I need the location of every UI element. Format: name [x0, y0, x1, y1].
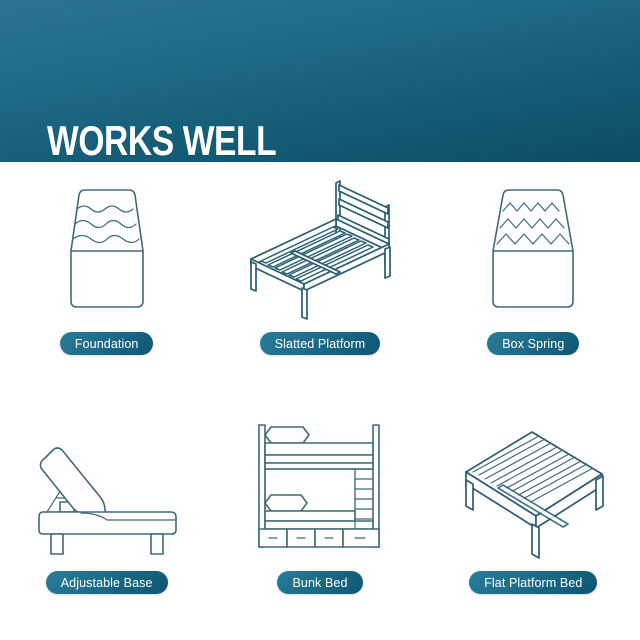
base-label-box-spring: Box Spring	[487, 332, 579, 355]
base-card-adjustable-base[interactable]: Adjustable Base	[0, 401, 213, 640]
adjustable-base-icon	[12, 407, 202, 567]
base-card-foundation[interactable]: Foundation	[0, 162, 213, 401]
base-label-bunk-bed: Bunk Bed	[277, 571, 362, 594]
base-card-slatted-platform[interactable]: Slatted Platform	[213, 162, 426, 401]
base-card-box-spring[interactable]: Box Spring	[427, 162, 640, 401]
slatted-platform-bed-icon	[225, 168, 415, 328]
base-card-bunk-bed[interactable]: Bunk Bed	[213, 401, 426, 640]
box-spring-icon	[438, 168, 628, 328]
base-label-flat-platform-bed: Flat Platform Bed	[469, 571, 597, 594]
mattress-foundation-icon	[12, 168, 202, 328]
flat-platform-bed-icon	[438, 407, 628, 567]
page-title: WORKS WELL WITH THESE BASES	[47, 28, 373, 162]
page-title-line-1: WORKS WELL	[47, 118, 373, 162]
base-label-slatted-platform: Slatted Platform	[260, 332, 381, 355]
compatibility-infographic: WORKS WELL WITH THESE BASES Foundation	[0, 0, 640, 640]
bunk-bed-icon	[225, 407, 415, 567]
base-label-adjustable-base: Adjustable Base	[46, 571, 168, 594]
header-banner: WORKS WELL WITH THESE BASES	[0, 0, 640, 162]
bases-grid: Foundation	[0, 162, 640, 640]
base-label-foundation: Foundation	[60, 332, 154, 355]
base-card-flat-platform-bed[interactable]: Flat Platform Bed	[427, 401, 640, 640]
